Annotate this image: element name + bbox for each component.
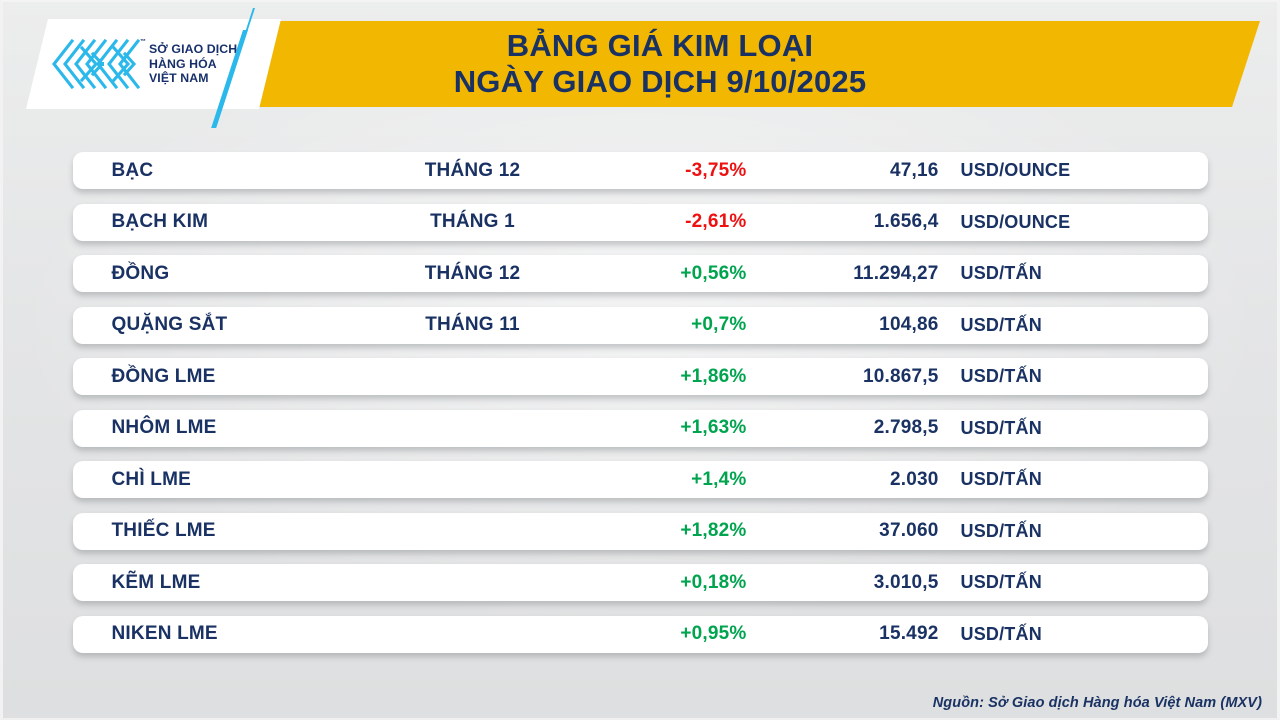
logo-line-2: HÀNG HÓA xyxy=(149,57,237,72)
price-unit: USD/TẤN xyxy=(961,616,1042,653)
price-value: 11.294,27 xyxy=(763,255,939,292)
price-change-percent: -2,61% xyxy=(593,204,747,241)
price-unit: USD/TẤN xyxy=(961,255,1042,292)
contract-month xyxy=(373,461,573,498)
table-row[interactable]: NHÔM LME+1,63%2.798,5USD/TẤN xyxy=(73,410,1208,447)
table-row[interactable]: ĐỒNG LME+1,86%10.867,5USD/TẤN xyxy=(73,358,1208,395)
price-value: 2.030 xyxy=(763,461,939,498)
price-value: 3.010,5 xyxy=(763,564,939,601)
price-unit: USD/OUNCE xyxy=(961,204,1071,241)
contract-month xyxy=(373,616,573,653)
table-row[interactable]: CHÌ LME+1,4%2.030USD/TẤN xyxy=(73,461,1208,498)
page-title: BẢNG GIÁ KIM LOẠI NGÀY GIAO DỊCH 9/10/20… xyxy=(250,21,1070,107)
contract-month xyxy=(373,564,573,601)
price-change-percent: +1,63% xyxy=(593,410,747,447)
metal-name: ĐỒNG xyxy=(112,255,170,292)
table-row[interactable]: THIẾC LME+1,82%37.060USD/TẤN xyxy=(73,513,1208,550)
trademark-symbol: ™ xyxy=(140,39,146,46)
contract-month: THÁNG 12 xyxy=(373,255,573,292)
contract-month xyxy=(373,358,573,395)
price-unit: USD/TẤN xyxy=(961,358,1042,395)
price-unit: USD/TẤN xyxy=(961,307,1042,344)
logo-line-3: VIỆT NAM xyxy=(149,71,237,86)
metal-name: ĐỒNG LME xyxy=(112,358,216,395)
table-row[interactable]: QUẶNG SẮTTHÁNG 11+0,7%104,86USD/TẤN xyxy=(73,307,1208,344)
metal-name: KẼM LME xyxy=(112,564,201,601)
price-change-percent: +0,95% xyxy=(593,616,747,653)
table-row[interactable]: KẼM LME+0,18%3.010,5USD/TẤN xyxy=(73,564,1208,601)
price-value: 10.867,5 xyxy=(763,358,939,395)
metal-name: CHÌ LME xyxy=(112,461,192,498)
price-value: 2.798,5 xyxy=(763,410,939,447)
page-header: ™ SỞ GIAO DỊCH HÀNG HÓA VIỆT NAM BẢNG GI… xyxy=(0,0,1280,125)
contract-month: THÁNG 12 xyxy=(373,152,573,189)
contract-month xyxy=(373,410,573,447)
source-note: Nguồn: Sở Giao dịch Hàng hóa Việt Nam (M… xyxy=(933,695,1262,711)
price-change-percent: +1,4% xyxy=(593,461,747,498)
metal-name: NIKEN LME xyxy=(112,616,218,653)
price-change-percent: +1,86% xyxy=(593,358,747,395)
contract-month: THÁNG 1 xyxy=(373,204,573,241)
price-value: 1.656,4 xyxy=(763,204,939,241)
price-change-percent: -3,75% xyxy=(593,152,747,189)
price-unit: USD/TẤN xyxy=(961,461,1042,498)
price-unit: USD/TẤN xyxy=(961,410,1042,447)
contract-month: THÁNG 11 xyxy=(373,307,573,344)
table-row[interactable]: BẠCTHÁNG 12-3,75%47,16USD/OUNCE xyxy=(73,152,1208,189)
metal-name: BẠCH KIM xyxy=(112,204,209,241)
page-title-line-2: NGÀY GIAO DỊCH 9/10/2025 xyxy=(454,66,867,99)
page-title-line-1: BẢNG GIÁ KIM LOẠI xyxy=(507,30,814,63)
price-value: 15.492 xyxy=(763,616,939,653)
metal-name: QUẶNG SẮT xyxy=(112,307,228,344)
price-change-percent: +0,7% xyxy=(593,307,747,344)
price-change-percent: +1,82% xyxy=(593,513,747,550)
price-value: 104,86 xyxy=(763,307,939,344)
mxv-chevron-logo-icon xyxy=(52,38,144,90)
metal-name: BẠC xyxy=(112,152,154,189)
price-value: 47,16 xyxy=(763,152,939,189)
price-value: 37.060 xyxy=(763,513,939,550)
price-unit: USD/TẤN xyxy=(961,513,1042,550)
price-unit: USD/TẤN xyxy=(961,564,1042,601)
price-change-percent: +0,56% xyxy=(593,255,747,292)
table-row[interactable]: BẠCH KIMTHÁNG 1-2,61%1.656,4USD/OUNCE xyxy=(73,204,1208,241)
logo-line-1: SỞ GIAO DỊCH xyxy=(149,42,237,57)
price-unit: USD/OUNCE xyxy=(961,152,1071,189)
metal-price-table: BẠCTHÁNG 12-3,75%47,16USD/OUNCEBẠCH KIMT… xyxy=(0,152,1280,667)
table-row[interactable]: ĐỒNGTHÁNG 12+0,56%11.294,27USD/TẤN xyxy=(73,255,1208,292)
price-change-percent: +0,18% xyxy=(593,564,747,601)
table-row[interactable]: NIKEN LME+0,95%15.492USD/TẤN xyxy=(73,616,1208,653)
contract-month xyxy=(373,513,573,550)
logo-wordmark: ™ SỞ GIAO DỊCH HÀNG HÓA VIỆT NAM xyxy=(149,42,237,86)
metal-name: NHÔM LME xyxy=(112,410,217,447)
metal-name: THIẾC LME xyxy=(112,513,216,550)
